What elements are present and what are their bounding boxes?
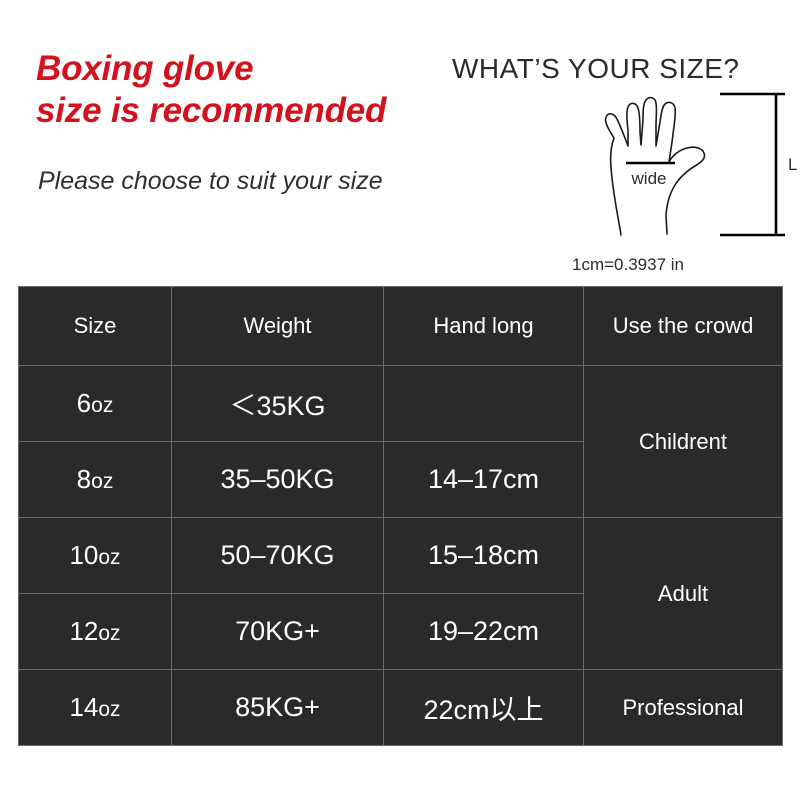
size-unit: oz bbox=[91, 394, 113, 417]
cell-size: 12oz bbox=[19, 594, 172, 670]
size-number: 6 bbox=[77, 388, 91, 418]
cell-use-the-crowd: Adult bbox=[584, 518, 783, 670]
cell-hand-long: 19–22cm bbox=[384, 594, 584, 670]
cell-weight: 50–70KG bbox=[172, 518, 384, 594]
cell-use-the-crowd: Professional bbox=[584, 670, 783, 746]
cell-weight: 85KG+ bbox=[172, 670, 384, 746]
column-header-weight: Weight bbox=[172, 287, 384, 366]
page-title: Boxing glove size is recommended bbox=[36, 48, 466, 132]
cell-hand-long: 22cm以上 bbox=[384, 670, 584, 746]
size-unit: oz bbox=[98, 698, 120, 721]
table-header-row: Size Weight Hand long Use the crowd bbox=[19, 287, 783, 366]
cell-size: 6oz bbox=[19, 366, 172, 442]
cell-hand-long: 14–17cm bbox=[384, 442, 584, 518]
cell-weight: ＜35KG bbox=[172, 366, 384, 442]
size-number: 12 bbox=[69, 616, 98, 646]
table-body: 6oz ＜35KG Childrent 8oz 35–50KG 14–17cm … bbox=[19, 366, 783, 746]
column-header-use-the-crowd: Use the crowd bbox=[584, 287, 783, 366]
size-unit: oz bbox=[98, 622, 120, 645]
whats-your-size-heading: WHAT’S YOUR SIZE? bbox=[452, 52, 740, 86]
cell-size: 8oz bbox=[19, 442, 172, 518]
title-line-2: size is recommended bbox=[36, 90, 466, 132]
cell-hand-long: 15–18cm bbox=[384, 518, 584, 594]
cell-size: 10oz bbox=[19, 518, 172, 594]
size-unit: oz bbox=[98, 546, 120, 569]
length-label: Length bbox=[788, 155, 798, 174]
column-header-hand-long: Hand long bbox=[384, 287, 584, 366]
page-subtitle: Please choose to suit your size bbox=[38, 166, 383, 196]
wide-label: wide bbox=[631, 169, 667, 188]
hand-measurement-diagram: wide Length bbox=[548, 82, 798, 257]
cell-use-the-crowd: Childrent bbox=[584, 366, 783, 518]
size-unit: oz bbox=[91, 470, 113, 493]
header-section: Boxing glove size is recommended Please … bbox=[0, 0, 800, 286]
size-number: 10 bbox=[69, 540, 98, 570]
cell-weight: 35–50KG bbox=[172, 442, 384, 518]
cell-weight: 70KG+ bbox=[172, 594, 384, 670]
title-line-1: Boxing glove bbox=[36, 48, 466, 90]
size-chart-table: Size Weight Hand long Use the crowd 6oz … bbox=[18, 286, 783, 746]
table-head: Size Weight Hand long Use the crowd bbox=[19, 287, 783, 366]
hand-diagram-svg: wide Length bbox=[548, 82, 798, 257]
size-number: 8 bbox=[77, 464, 91, 494]
size-number: 14 bbox=[69, 692, 98, 722]
unit-conversion-note: 1cm=0.3937 in bbox=[572, 255, 684, 275]
table-row: 10oz 50–70KG 15–18cm Adult bbox=[19, 518, 783, 594]
cell-hand-long bbox=[384, 366, 584, 442]
column-header-size: Size bbox=[19, 287, 172, 366]
cell-size: 14oz bbox=[19, 670, 172, 746]
table-row: 6oz ＜35KG Childrent bbox=[19, 366, 783, 442]
table-row: 14oz 85KG+ 22cm以上 Professional bbox=[19, 670, 783, 746]
hand-outline-icon bbox=[606, 98, 705, 235]
